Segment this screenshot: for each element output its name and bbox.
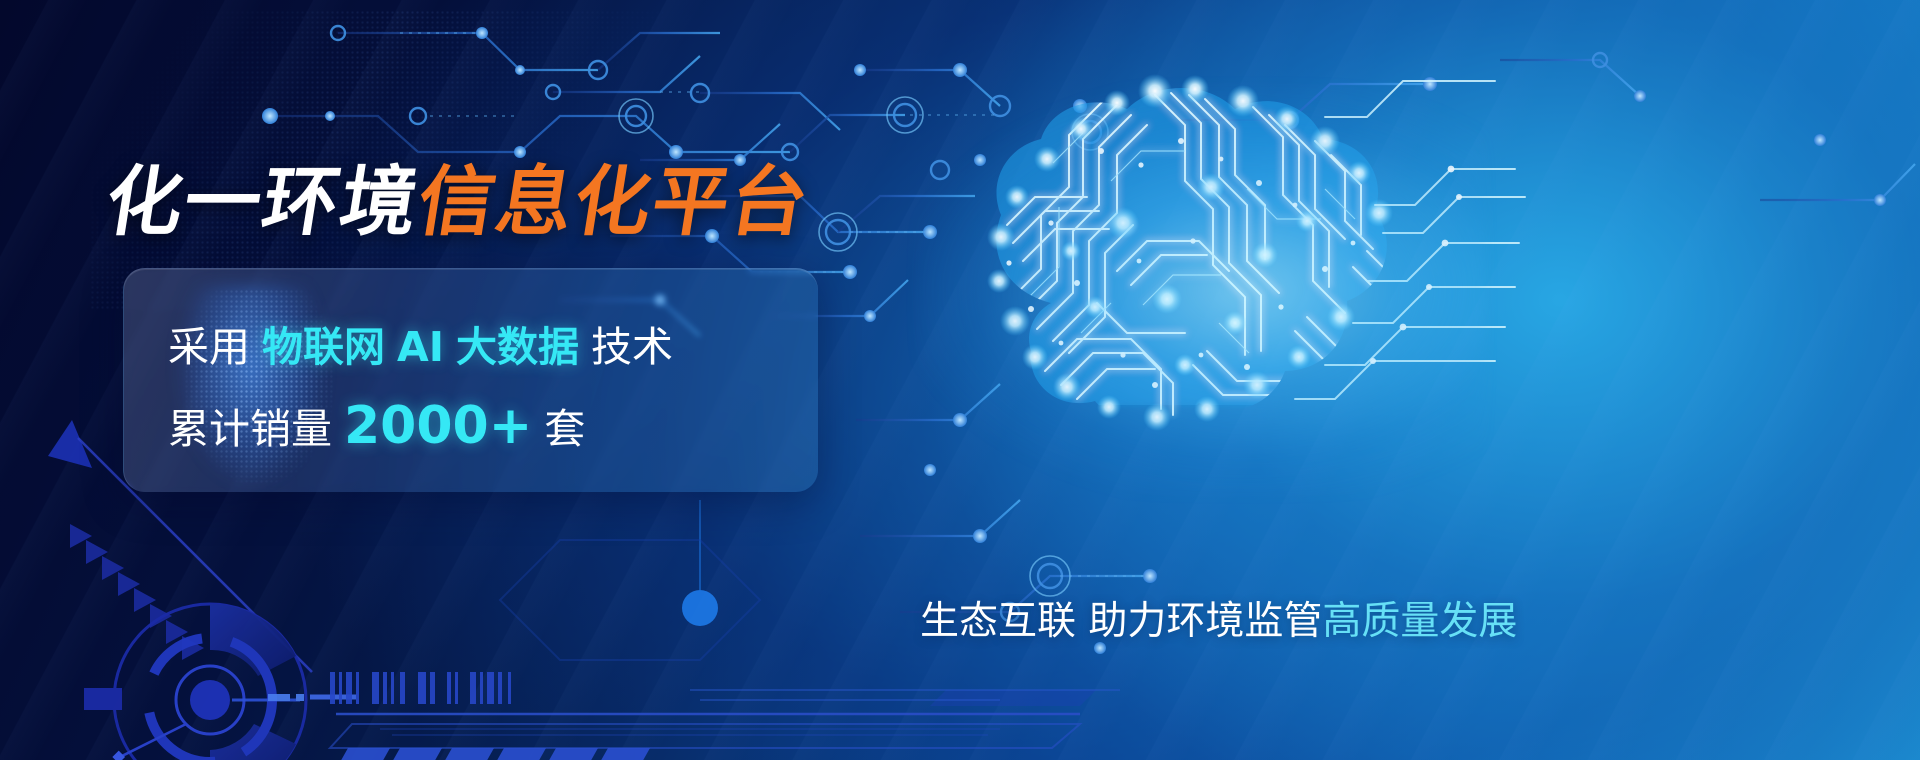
tech-highlight-ai: AI [397, 323, 444, 371]
banner-title: 化一环境信息化平台 [99, 140, 818, 250]
tech-prefix: 采用 [168, 323, 250, 371]
feature-card: 采用物联网AI大数据技术 累计销量2000+套 [123, 268, 818, 492]
tech-highlight-iot: 物联网 [262, 323, 385, 371]
card-line-technology: 采用物联网AI大数据技术 [168, 313, 673, 373]
tagline-highlight-text: 高质量发展 [1322, 599, 1517, 644]
tech-suffix: 技术 [591, 323, 673, 371]
tagline-white-text: 生态互联 助力环境监管 [920, 599, 1322, 644]
circuit-brain-icon [855, 55, 1535, 525]
promo-banner: 化一环境信息化平台 采用物联网AI大数据技术 累计销量2000+套 生态互联 助… [0, 0, 1920, 760]
banner-tagline: 生态互联 助力环境监管高质量发展 [920, 590, 1517, 646]
sales-prefix: 累计销量 [168, 405, 332, 453]
sales-count: 2000+ [344, 396, 532, 456]
title-white-text: 化一环境 [100, 157, 426, 246]
arrow-chevrons-decoration [70, 524, 204, 660]
card-line-sales: 累计销量2000+套 [168, 395, 585, 456]
barcode-bars-decoration [330, 672, 511, 704]
title-orange-text: 信息化平台 [412, 157, 816, 246]
sales-suffix: 套 [544, 405, 585, 453]
tech-highlight-bigdata: 大数据 [456, 323, 579, 371]
